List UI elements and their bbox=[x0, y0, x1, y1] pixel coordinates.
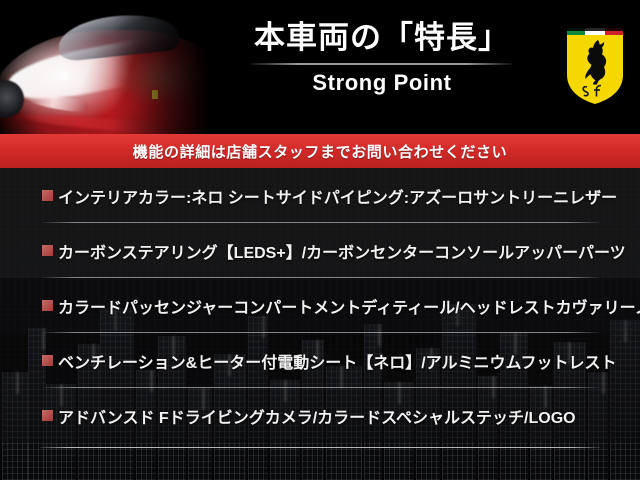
bullet-square-icon bbox=[42, 355, 53, 366]
feature-row: カラードパッセンジャーコンパートメントディティール/ヘッドレストカヴァリーノ bbox=[0, 278, 640, 333]
feature-text: カラードパッセンジャーコンパートメントディティール/ヘッドレストカヴァリーノ bbox=[58, 294, 640, 318]
feature-row: カーボンステアリング【LEDS+】/カーボンセンターコンソールアッパーパーツ bbox=[0, 223, 640, 278]
feature-row: インテリアカラー:ネロ シートサイドパイピング:アズーロサントリーニレザー bbox=[0, 168, 640, 223]
page-title-en: Strong Point bbox=[212, 69, 552, 97]
car-photo-fade bbox=[0, 0, 215, 134]
title-block: 本車両の「特長」 Strong Point bbox=[212, 18, 552, 97]
ferrari-car-photo bbox=[0, 0, 215, 134]
feature-text: アドバンスド Fドライビングカメラ/カラードスペシャルステッチ/LOGO bbox=[58, 404, 576, 428]
feature-list: インテリアカラー:ネロ シートサイドパイピング:アズーロサントリーニレザー カー… bbox=[0, 168, 640, 448]
bottom-divider bbox=[40, 447, 600, 448]
ferrari-shield-logo-icon bbox=[564, 25, 626, 107]
page-title-jp: 本車両の「特長」 bbox=[212, 18, 552, 58]
feature-row: ベンチレーション&ヒーター付電動シート【ネロ】/アルミニウムフットレスト bbox=[0, 333, 640, 388]
bullet-square-icon bbox=[42, 245, 53, 256]
header-hero: 本車両の「特長」 Strong Point bbox=[0, 0, 640, 134]
feature-text: インテリアカラー:ネロ シートサイドパイピング:アズーロサントリーニレザー bbox=[58, 184, 617, 208]
title-divider bbox=[251, 63, 513, 65]
feature-panel-page: 本車両の「特長」 Strong Point 機能の詳細は店舗スタッフまでお問い合… bbox=[0, 0, 640, 480]
feature-text: カーボンステアリング【LEDS+】/カーボンセンターコンソールアッパーパーツ bbox=[58, 239, 626, 263]
bullet-square-icon bbox=[42, 410, 53, 421]
feature-row: アドバンスド Fドライビングカメラ/カラードスペシャルステッチ/LOGO bbox=[0, 388, 640, 443]
bullet-square-icon bbox=[42, 300, 53, 311]
info-banner-text: 機能の詳細は店舗スタッフまでお問い合わせください bbox=[133, 141, 507, 162]
bullet-square-icon bbox=[42, 190, 53, 201]
feature-text: ベンチレーション&ヒーター付電動シート【ネロ】/アルミニウムフットレスト bbox=[58, 349, 617, 373]
info-banner: 機能の詳細は店舗スタッフまでお問い合わせください bbox=[0, 134, 640, 168]
